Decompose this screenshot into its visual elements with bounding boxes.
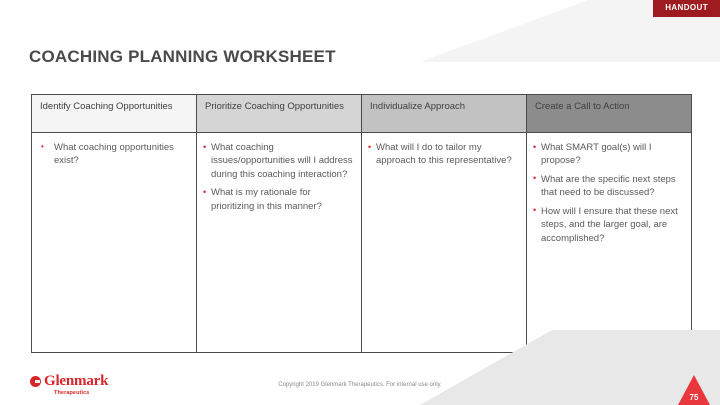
column-header-individualize-approach: Individualize Approach xyxy=(362,95,527,133)
list-item: What coaching issues/opportunities will … xyxy=(203,141,354,181)
column-header-prioritize-coaching-opportunities: Prioritize Coaching Opportunities xyxy=(197,95,362,133)
bullet-list-call-to-action: What SMART goal(s) will I propose? What … xyxy=(533,141,684,245)
page-number-badge: 75 xyxy=(678,375,710,405)
list-item: What is my rationale for prioritizing in… xyxy=(203,186,354,213)
list-item: How will I ensure that these next steps,… xyxy=(533,205,684,245)
coaching-planning-worksheet-table: Identify Coaching Opportunities Prioriti… xyxy=(31,94,692,353)
bullet-list-individualize: What will I do to tailor my approach to … xyxy=(368,141,519,168)
column-header-create-a-call-to-action: Create a Call to Action xyxy=(527,95,692,133)
table-body-row: What coaching opportunities exist? What … xyxy=(32,133,692,353)
handout-badge: HANDOUT xyxy=(653,0,720,17)
bullet-list-prioritize: What coaching issues/opportunities will … xyxy=(203,141,354,213)
list-item: What SMART goal(s) will I propose? xyxy=(533,141,684,168)
slide-canvas: HANDOUT COACHING PLANNING WORKSHEET Iden… xyxy=(0,0,720,405)
cell-prioritize-coaching-opportunities: What coaching issues/opportunities will … xyxy=(197,133,362,353)
column-header-identify-coaching-opportunities: Identify Coaching Opportunities xyxy=(32,95,197,133)
page-number: 75 xyxy=(678,393,710,402)
list-item: What will I do to tailor my approach to … xyxy=(368,141,519,168)
logo-subtitle: Therapeutics xyxy=(54,390,108,396)
bullet-list-identify: What coaching opportunities exist? xyxy=(38,141,189,168)
list-item: What coaching opportunities exist? xyxy=(38,141,189,168)
cell-individualize-approach: What will I do to tailor my approach to … xyxy=(362,133,527,353)
list-item: What are the specific next steps that ne… xyxy=(533,173,684,200)
cell-identify-coaching-opportunities: What coaching opportunities exist? xyxy=(32,133,197,353)
cell-create-a-call-to-action: What SMART goal(s) will I propose? What … xyxy=(527,133,692,353)
copyright-notice: Copyright 2019 Glenmark Therapeutics. Fo… xyxy=(0,382,720,388)
page-title: COACHING PLANNING WORKSHEET xyxy=(29,47,336,67)
table-header-row: Identify Coaching Opportunities Prioriti… xyxy=(32,95,692,133)
